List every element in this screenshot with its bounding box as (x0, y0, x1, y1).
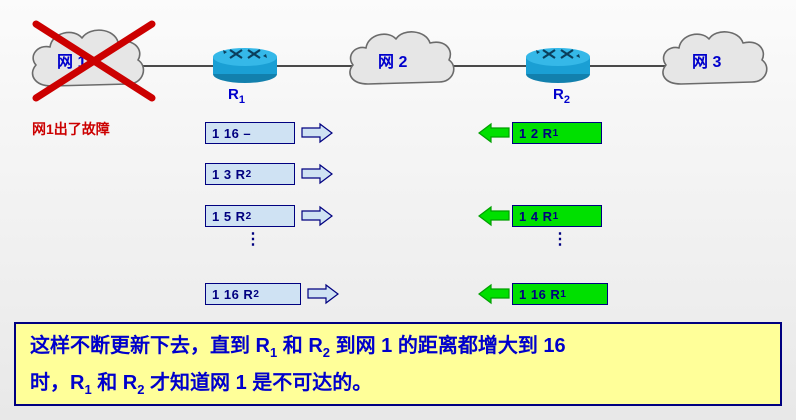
router-r2-icon (523, 46, 593, 86)
net1-failure-cross-icon (24, 14, 160, 106)
arrow-right-2-icon (300, 163, 336, 185)
cloud-label-net2: 网 2 (378, 48, 407, 72)
router-r1-icon (210, 46, 280, 86)
router-label-r1: R1 (228, 86, 245, 106)
cloud-label-net3: 网 3 (692, 48, 721, 72)
arrow-left-2-icon (475, 205, 511, 227)
message-right-1: 1 2 R1 (512, 122, 602, 144)
failure-note: 网1出了故障 (32, 119, 110, 139)
left-vertical-dots: ⋮ (243, 237, 263, 243)
arrow-left-1-icon (475, 122, 511, 144)
message-left-1: 1 16 – (205, 122, 295, 144)
arrow-right-4-icon (306, 283, 342, 305)
right-vertical-dots: ⋮ (550, 237, 570, 243)
arrow-right-3-icon (300, 205, 336, 227)
message-right-3: 1 16 R1 (512, 283, 608, 305)
message-left-2: 1 3 R2 (205, 163, 295, 185)
diagram-canvas: 网 1 网 2 网 3 R1 R2 网1出了故障 1 16 – (0, 0, 796, 420)
message-left-3: 1 5 R2 (205, 205, 295, 227)
router-label-r2: R2 (553, 86, 570, 106)
caption-box: 这样不断更新下去，直到 R1 和 R2 到网 1 的距离都增大到 16 时，R1… (14, 322, 782, 406)
caption-line-2: 时，R1 和 R2 才知道网 1 是不可达的。 (30, 368, 768, 405)
arrow-left-3-icon (475, 283, 511, 305)
message-right-2: 1 4 R1 (512, 205, 602, 227)
caption-line-1: 这样不断更新下去，直到 R1 和 R2 到网 1 的距离都增大到 16 (30, 331, 768, 368)
message-left-4: 1 16 R2 (205, 283, 301, 305)
arrow-right-1-icon (300, 122, 336, 144)
